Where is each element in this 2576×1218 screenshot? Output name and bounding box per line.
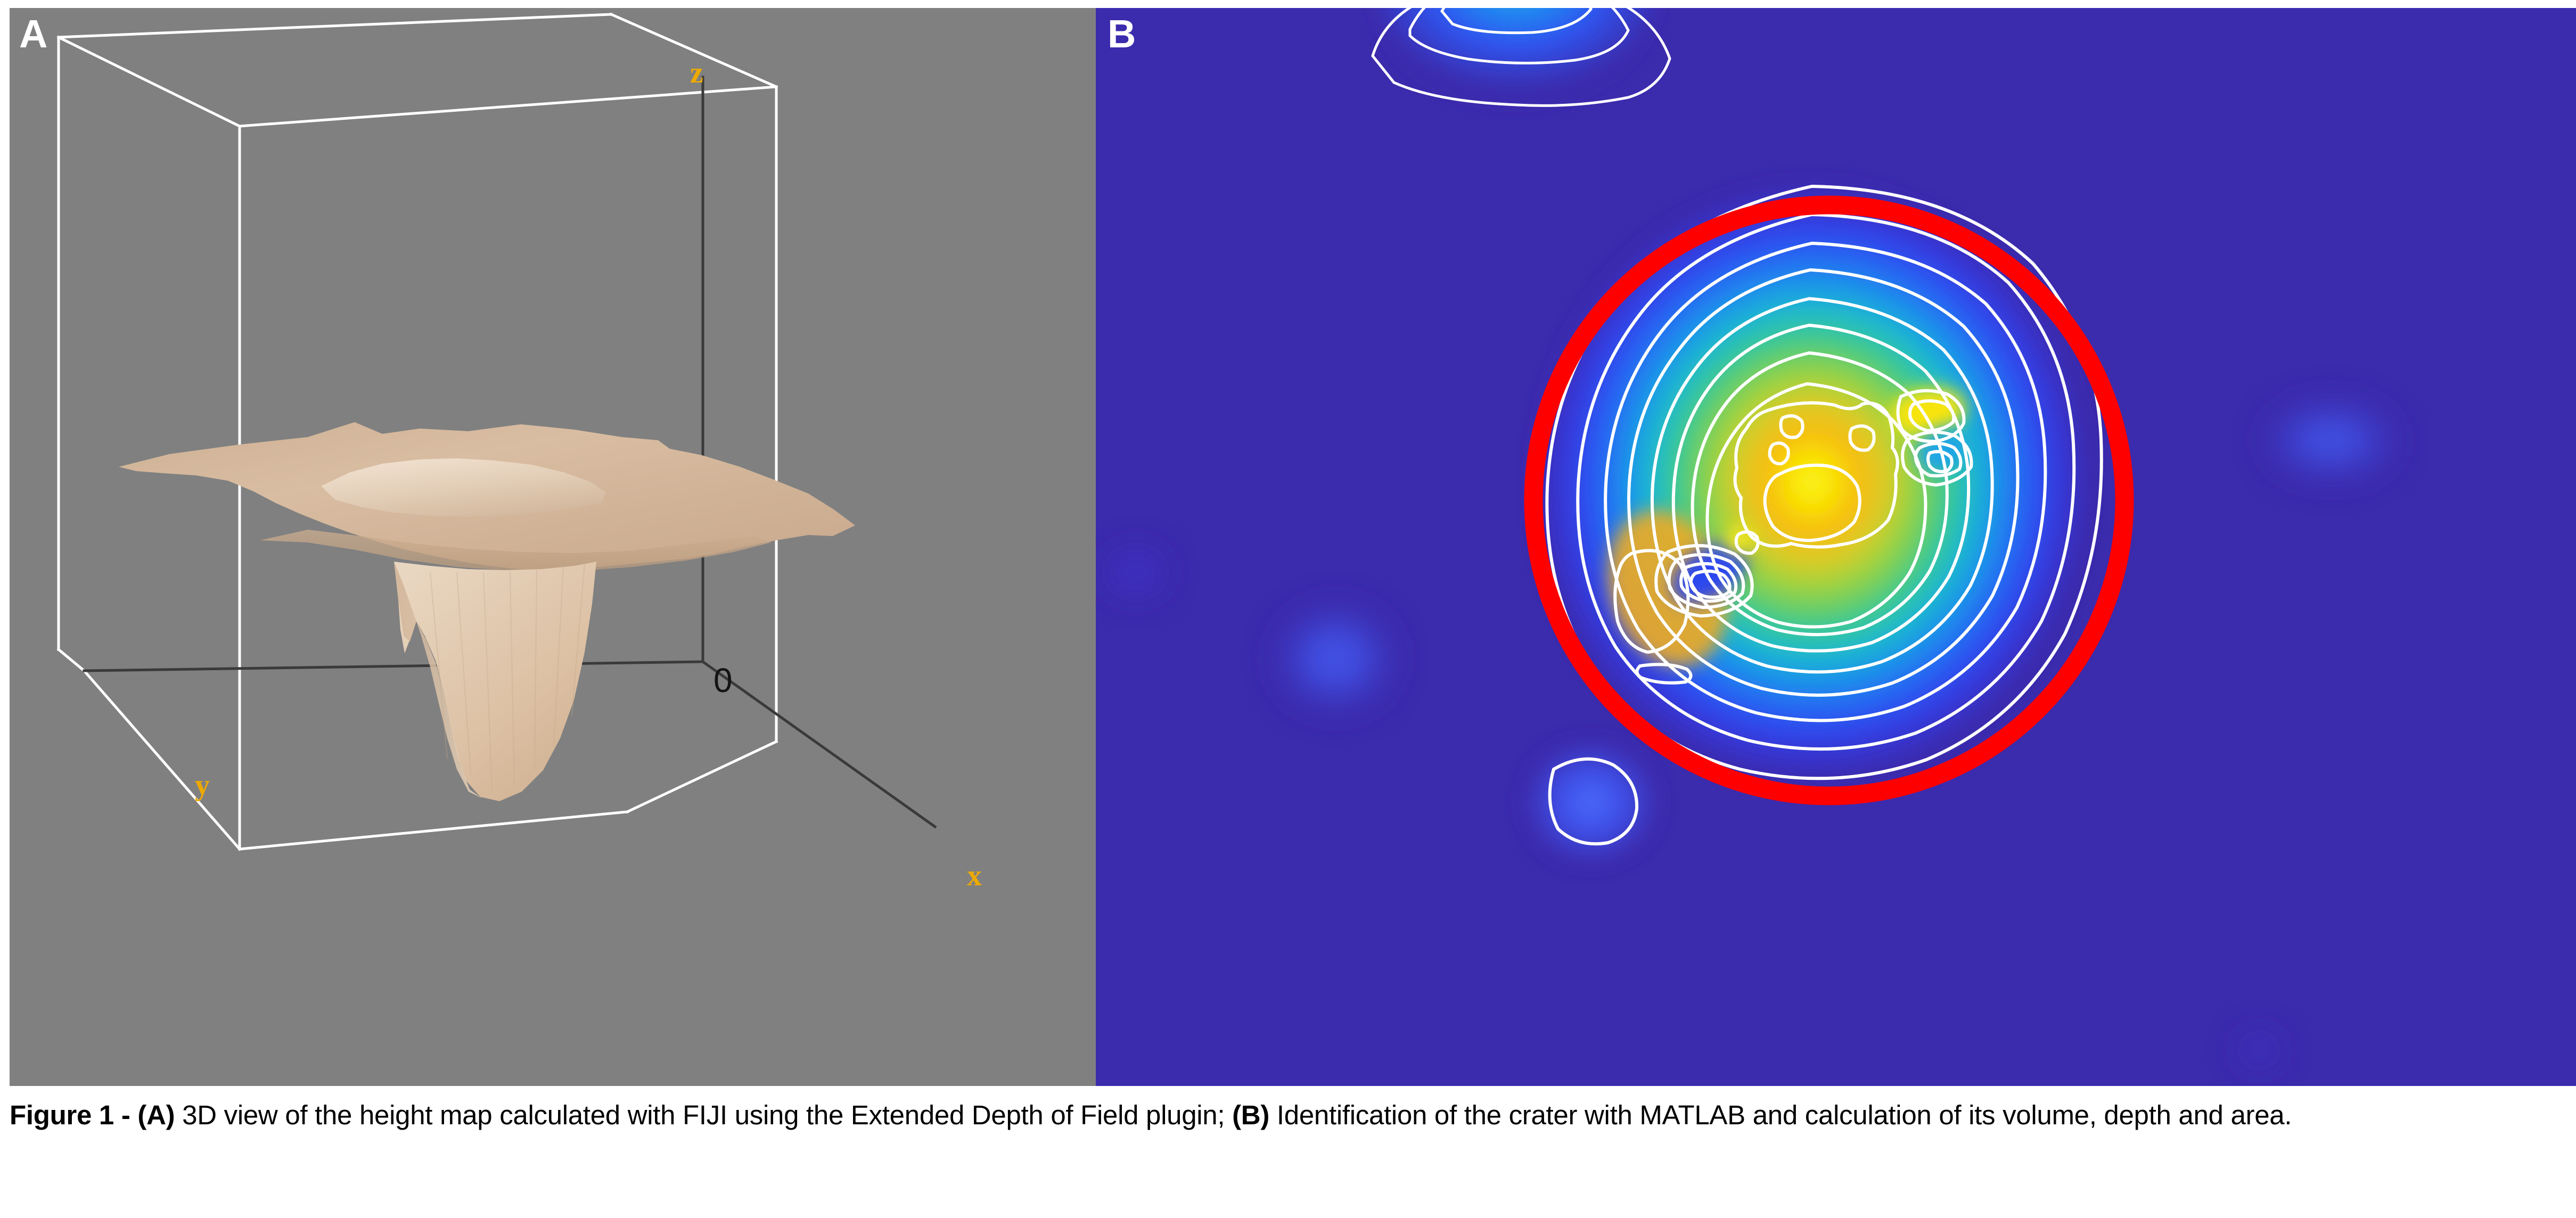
caption-figure-prefix: Figure 1 - (A)	[10, 1100, 175, 1130]
crater-pit	[394, 562, 596, 801]
panel-b: B	[1096, 8, 2576, 1086]
caption-panel-b-prefix: (B)	[1232, 1100, 1269, 1130]
axis-label-origin: 0	[713, 661, 733, 700]
surface-3d-svg	[10, 8, 1096, 1086]
axis-label-x: x	[967, 859, 982, 893]
caption-part-b: Identification of the crater with MATLAB…	[1269, 1100, 2292, 1130]
axis-label-z: z	[690, 56, 703, 90]
panel-b-letter: B	[1107, 14, 1136, 54]
panel-row: A z y x 0	[10, 8, 2576, 1086]
figure-container: A z y x 0	[0, 0, 2576, 1218]
axis-label-y: y	[195, 768, 210, 802]
contour-heatmap-svg	[1096, 8, 2576, 1086]
panel-a-letter: A	[19, 14, 47, 54]
height-map-surface	[119, 422, 855, 801]
figure-caption: Figure 1 - (A) 3D view of the height map…	[10, 1098, 2565, 1133]
satellite-blob-bottom-left	[1523, 739, 1659, 865]
caption-part-a: 3D view of the height map calculated wit…	[175, 1100, 1232, 1130]
panel-a: A z y x 0	[10, 8, 1096, 1086]
surface-3d-scene	[10, 8, 1096, 1086]
